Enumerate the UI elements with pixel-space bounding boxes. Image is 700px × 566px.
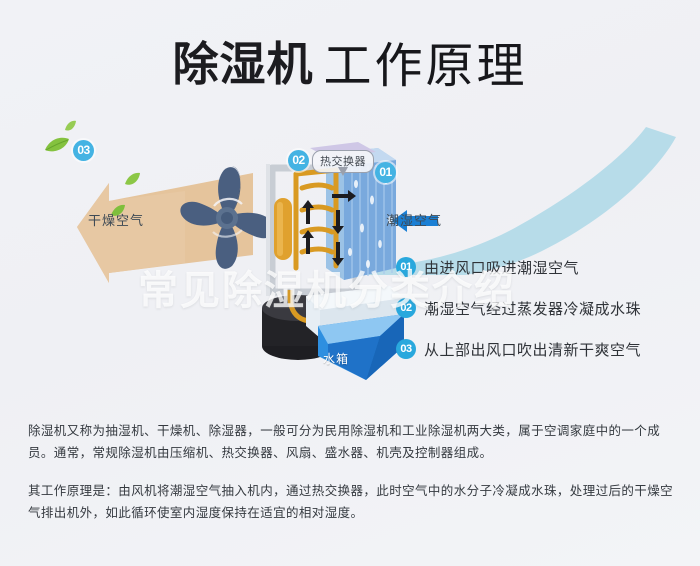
diagram-label-moist-air: 潮湿空气 bbox=[386, 210, 442, 229]
diagram-badge-02: 02 bbox=[288, 150, 309, 171]
diagram-label-water-tank: 水箱 bbox=[323, 350, 349, 367]
step-badge-03: 03 bbox=[396, 339, 416, 359]
step-text-01: 由进风口吸进潮湿空气 bbox=[424, 257, 579, 278]
description-block: 除湿机又称为抽湿机、干燥机、除湿器，一般可分为民用除湿机和工业除湿机两大类，属于… bbox=[28, 420, 676, 540]
diagram-badge-03: 03 bbox=[73, 140, 94, 161]
diagram-badge-01: 01 bbox=[375, 162, 396, 183]
step-badge-02: 02 bbox=[396, 298, 416, 318]
list-item: 01 由进风口吸进潮湿空气 bbox=[396, 252, 691, 282]
description-paragraph-1: 除湿机又称为抽湿机、干燥机、除湿器，一般可分为民用除湿机和工业除湿机两大类，属于… bbox=[28, 420, 676, 464]
leaf-icon bbox=[64, 120, 77, 132]
leaf-icon bbox=[124, 172, 141, 187]
leaf-icon bbox=[44, 136, 70, 154]
infographic-page: 除湿机工作原理 bbox=[0, 0, 700, 566]
list-item: 02 潮湿空气经过蒸发器冷凝成水珠 bbox=[396, 293, 691, 323]
steps-list: 01 由进风口吸进潮湿空气 02 潮湿空气经过蒸发器冷凝成水珠 03 从上部出风… bbox=[396, 252, 691, 375]
page-title-light: 工作原理 bbox=[323, 40, 527, 93]
description-paragraph-2: 其工作原理是：由风机将潮湿空气抽入机内，通过热交换器，此时空气中的水分子冷凝成水… bbox=[28, 480, 676, 524]
step-text-03: 从上部出风口吹出清新干爽空气 bbox=[424, 339, 641, 360]
step-text-02: 潮湿空气经过蒸发器冷凝成水珠 bbox=[424, 298, 641, 319]
page-title: 除湿机工作原理 bbox=[0, 26, 700, 96]
diagram-label-dry-air: 干燥空气 bbox=[88, 210, 144, 229]
page-title-bold: 除湿机 bbox=[172, 38, 313, 90]
list-item: 03 从上部出风口吹出清新干爽空气 bbox=[396, 334, 691, 364]
callout-tail-icon bbox=[338, 167, 348, 176]
step-badge-01: 01 bbox=[396, 257, 416, 277]
